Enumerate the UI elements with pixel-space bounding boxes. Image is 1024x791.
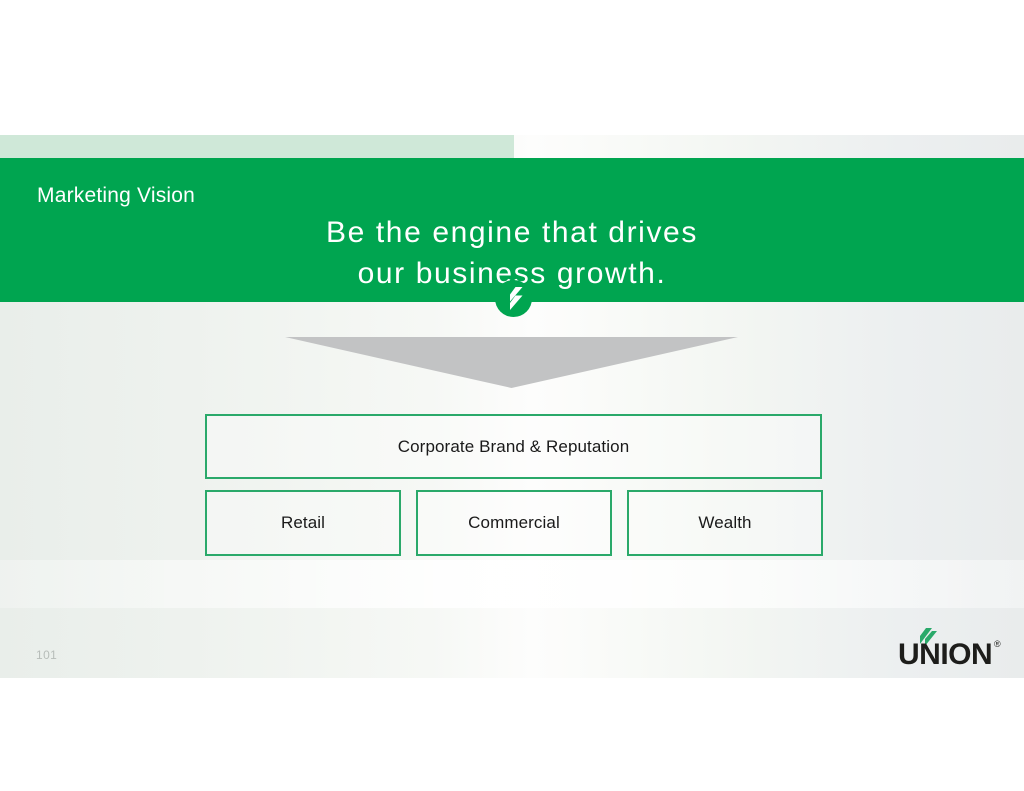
slide-canvas: Marketing Vision Be the engine that driv…: [0, 135, 1024, 678]
segment-box-retail[interactable]: Retail: [205, 490, 401, 556]
page-number: 101: [36, 648, 57, 662]
accent-strip: [0, 135, 514, 158]
headline-line-1: Be the engine that drives: [0, 212, 1024, 253]
banner-eyebrow-label: Marketing Vision: [37, 184, 195, 208]
union-logo: UNION ®: [898, 627, 1002, 667]
down-triangle-icon: [285, 337, 738, 388]
union-seal-icon: [495, 280, 532, 317]
brand-box[interactable]: Corporate Brand & Reputation: [205, 414, 822, 479]
svg-text:UNION: UNION: [898, 638, 992, 667]
segment-box-wealth[interactable]: Wealth: [627, 490, 823, 556]
segment-box-label: Commercial: [468, 513, 560, 533]
brand-box-label: Corporate Brand & Reputation: [398, 437, 630, 457]
background-highlight-band: [0, 560, 1024, 608]
segment-box-label: Wealth: [698, 513, 751, 533]
segment-box-commercial[interactable]: Commercial: [416, 490, 612, 556]
svg-text:®: ®: [994, 639, 1001, 649]
segment-box-label: Retail: [281, 513, 325, 533]
